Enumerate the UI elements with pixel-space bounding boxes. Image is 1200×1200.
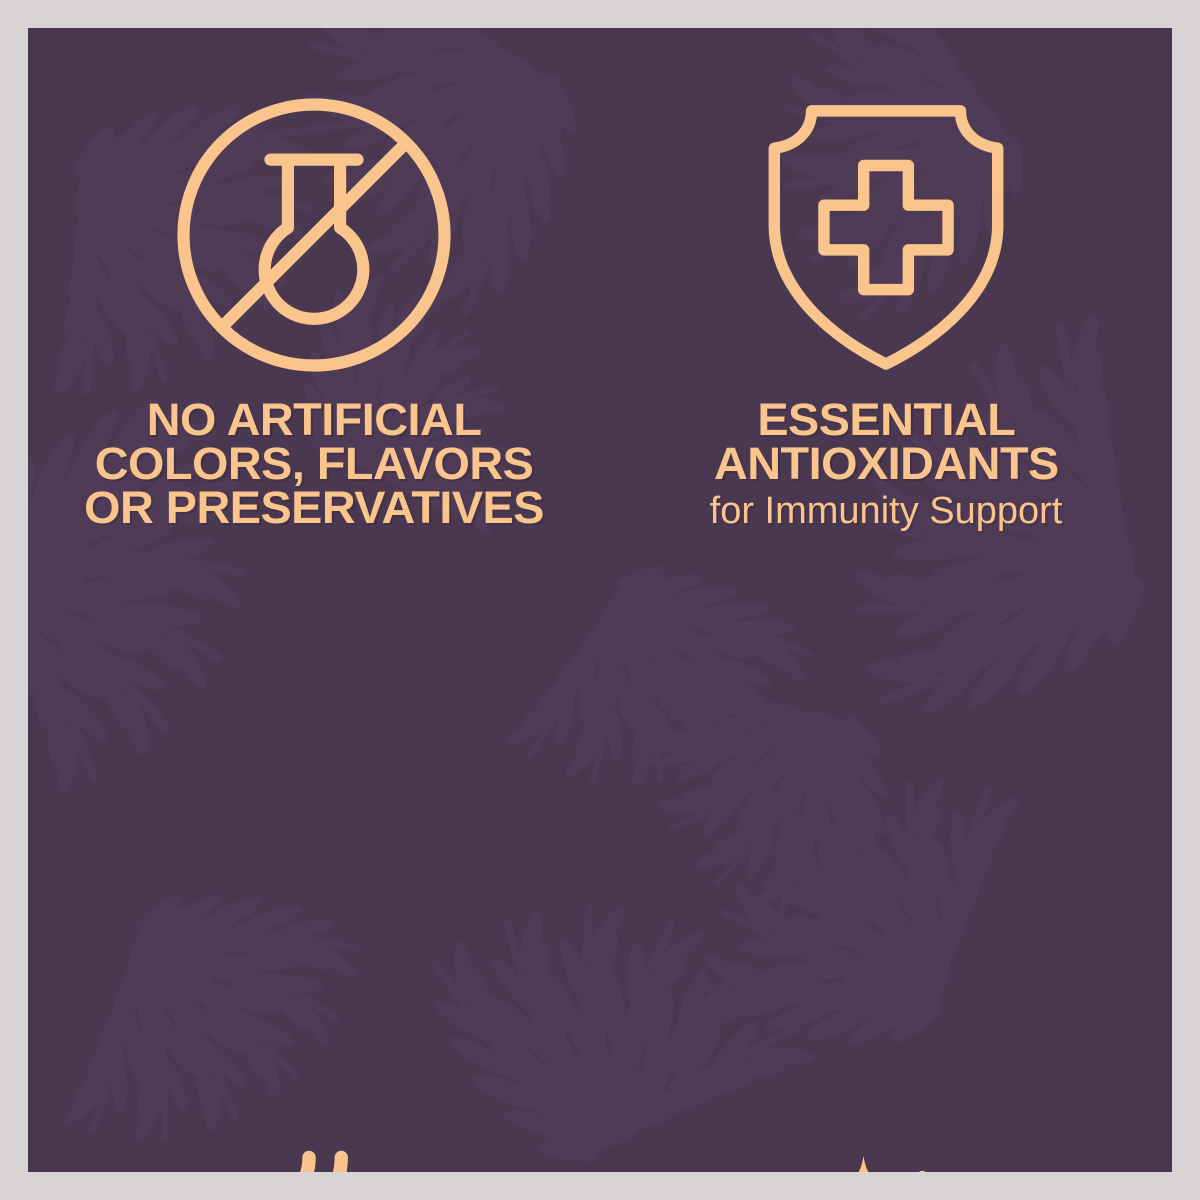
no-flask-icon-wrap xyxy=(169,90,459,380)
dog-sparkle-icon-wrap xyxy=(721,1144,1051,1172)
benefit-omega: OMEGA 3/6 & FATTY ACIDS for Healthy Skin… xyxy=(600,544,1172,1172)
benefit-headline: ESSENTIAL ANTIOXIDANTS xyxy=(703,398,1070,486)
no-flask-icon xyxy=(169,90,459,380)
benefit-antioxidants: ESSENTIAL ANTIOXIDANTS for Immunity Supp… xyxy=(600,28,1172,544)
sparkle-group xyxy=(779,1156,943,1172)
benefit-natural-fiber: NATURAL FIBER for Optimal Digestion xyxy=(28,544,600,1172)
benefit-label-block: NO ARTIFICIAL COLORS, FLAVORS OR PRESERV… xyxy=(93,398,535,534)
benefit-no-artificial: NO ARTIFICIAL COLORS, FLAVORS OR PRESERV… xyxy=(28,28,600,544)
benefit-subline: for Immunity Support xyxy=(710,490,1063,533)
benefits-panel: NO ARTIFICIAL COLORS, FLAVORS OR PRESERV… xyxy=(28,28,1172,1172)
benefit-headline: NO ARTIFICIAL COLORS, FLAVORS OR PRESERV… xyxy=(84,398,544,530)
dog-sparkle-icon xyxy=(721,1144,1051,1172)
intestine-icon-wrap xyxy=(200,1144,428,1172)
shield-cross-icon-wrap xyxy=(761,90,1011,380)
shield-cross-icon xyxy=(761,96,1011,374)
intestine-icon xyxy=(200,1144,428,1172)
benefit-label-block: ESSENTIAL ANTIOXIDANTS for Immunity Supp… xyxy=(710,398,1063,533)
benefits-grid: NO ARTIFICIAL COLORS, FLAVORS OR PRESERV… xyxy=(28,28,1172,1172)
